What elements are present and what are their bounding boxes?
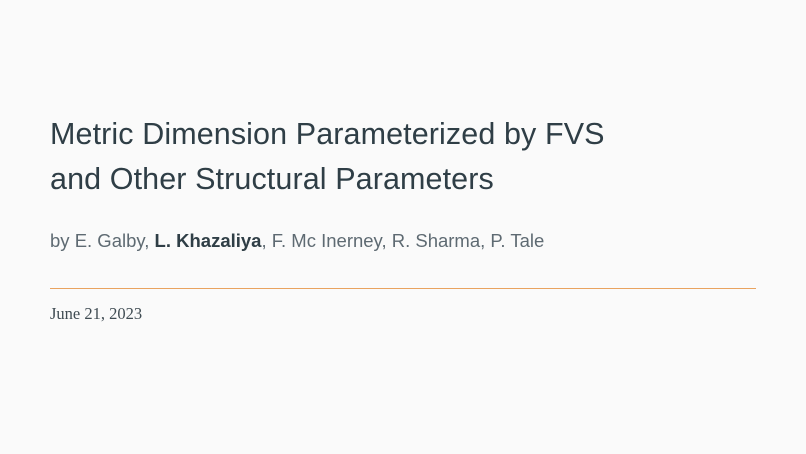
author-prefix: by xyxy=(50,230,75,251)
author-name-4: R. Sharma xyxy=(392,230,480,251)
accent-divider-rule xyxy=(50,288,756,289)
presentation-date: June 21, 2023 xyxy=(50,303,142,325)
author-name-2-highlighted: L. Khazaliya xyxy=(155,230,262,251)
author-separator-3: , xyxy=(381,230,391,251)
page-title-line-1: Metric Dimension Parameterized by FVS xyxy=(50,112,760,157)
author-name-5: P. Tale xyxy=(490,230,544,251)
author-name-1: E. Galby xyxy=(75,230,145,251)
author-separator-1: , xyxy=(144,230,154,251)
author-list: by E. Galby, L. Khazaliya, F. Mc Inerney… xyxy=(50,228,544,254)
page-title-line-2: and Other Structural Parameters xyxy=(50,157,760,202)
author-separator-2: , xyxy=(261,230,271,251)
author-separator-4: , xyxy=(480,230,490,251)
title-block: Metric Dimension Parameterized by FVS an… xyxy=(50,112,760,202)
author-name-3: F. Mc Inerney xyxy=(272,230,382,251)
title-slide: Metric Dimension Parameterized by FVS an… xyxy=(0,0,806,454)
